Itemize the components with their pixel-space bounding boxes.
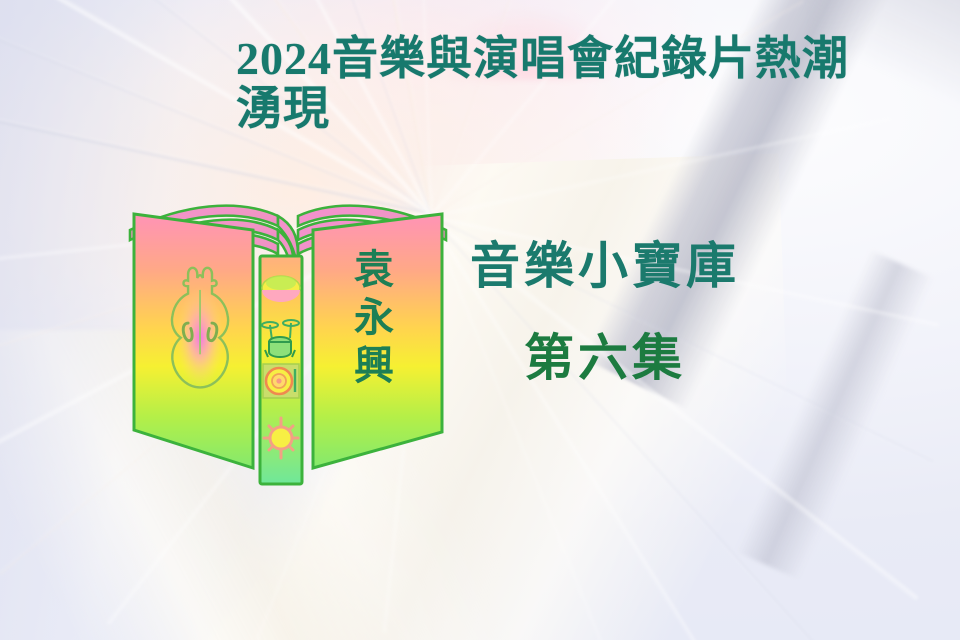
logo-author-char-1: 袁 (354, 246, 394, 294)
series-title: 音樂小寶庫 (470, 238, 740, 294)
poster-headline: 2024音樂與演唱會紀錄片熱潮湧現 (236, 34, 876, 134)
music-treasury-logo: 袁 永 興 (108, 182, 468, 500)
book-spine (260, 256, 302, 484)
book-left-page (134, 214, 253, 468)
drum-head-ellipse-icon (262, 276, 300, 302)
logo-author-name: 袁 永 興 (344, 246, 404, 390)
record-turntable-icon (263, 364, 299, 398)
logo-author-char-2: 永 (354, 294, 394, 342)
drum-kit-icon (262, 316, 300, 358)
episode-title: 第六集 (524, 330, 686, 386)
logo-author-char-3: 興 (354, 342, 394, 390)
poster-canvas: 袁 永 興 2024音樂與演唱會紀錄片熱潮湧現 音樂小寶庫 第六集 (0, 0, 960, 640)
